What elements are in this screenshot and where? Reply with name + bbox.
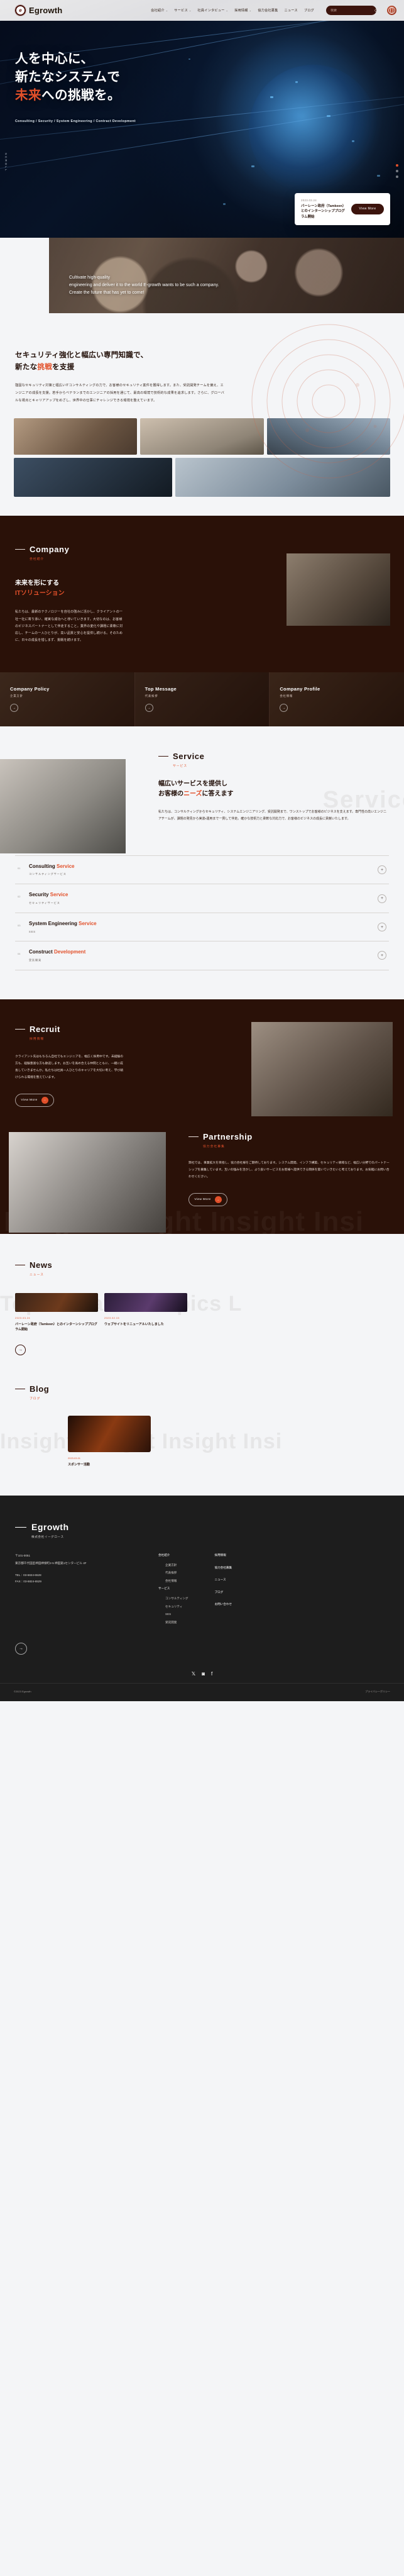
recruit-photo: [251, 1022, 393, 1116]
nav-label: ニュース: [285, 8, 298, 13]
security-heading-post: を支援: [52, 364, 74, 371]
footer-link-service[interactable]: サービス: [158, 1587, 188, 1591]
security-heading: セキュリティ強化と幅広い専門知識で、 新たな挑戦を支援: [15, 350, 226, 373]
tile-label-jp: 企業方針: [10, 694, 134, 698]
company-heading-jp: 会社紹介: [30, 557, 404, 561]
service-name-jp: コンサルティングサービス: [29, 872, 372, 876]
company-lead: 未来を形にする ITソリューション: [15, 579, 404, 599]
mission-text: Cultivate high-quality engineering and d…: [69, 274, 219, 297]
footer-social: 𝕏 ◙ f: [0, 1655, 404, 1683]
news-card-title: ウェブサイトをリニューアルいたしました: [104, 1322, 187, 1327]
footer-address: 〒101-0051 東京都千代田区神田神保町2-5 神田第1センタービル 4F …: [15, 1553, 141, 1629]
news-list: 2023.03.24 バーレーン政府（Tamkeen）とのインターンシッププログ…: [0, 1277, 404, 1332]
footer-fax: FAX：03-6824-6529: [15, 1580, 41, 1583]
service-name-jp: 受託開発: [29, 958, 372, 962]
footer-link-partner[interactable]: 協力会社募集: [214, 1567, 232, 1570]
footer-link-ses[interactable]: SES: [165, 1613, 188, 1616]
tile-bg: [0, 672, 134, 726]
site-footer: Egrowth 株式会社イーグロース 〒101-0051 東京都千代田区神田神保…: [0, 1496, 404, 1701]
chevron-down-icon: ⌄: [189, 9, 192, 12]
mission-line-1: Cultivate high-quality: [69, 274, 219, 282]
service-item-construct-development[interactable]: 04 Construct Development 受託開発 +: [15, 941, 389, 970]
brand-logo[interactable]: e Egrowth: [15, 5, 62, 16]
heading-rule: [15, 549, 25, 550]
footer-brand-en: Egrowth: [31, 1522, 69, 1532]
photo-office-1: [14, 418, 137, 455]
recruit-button-label: View More: [21, 1099, 37, 1102]
service-name-main: System Engineering: [29, 921, 79, 926]
nav-item-blog[interactable]: ブログ: [304, 8, 314, 13]
footer-scroll-top-button[interactable]: →: [15, 1643, 27, 1655]
service-lead-accent: ニーズ: [183, 791, 202, 797]
footer-link-recruit[interactable]: 採用情報: [214, 1554, 232, 1557]
news-card-1[interactable]: 2023.03.24 バーレーン政府（Tamkeen）とのインターンシッププログ…: [15, 1293, 98, 1332]
news-date: 2023.03.24: [301, 199, 346, 202]
hero-headline: 人を中心に、 新たなシステムで 未来への挑戦を。: [15, 50, 404, 104]
service-item-consulting[interactable]: 01 Consulting Service コンサルティングサービス +: [15, 855, 389, 885]
news-card-date: 2023.03.24: [15, 1316, 98, 1319]
nav-item-interview[interactable]: 社員インタビュー ⌄: [197, 8, 228, 13]
tile-label-jp: 会社情報: [280, 694, 404, 698]
service-watermark: Service: [323, 787, 404, 814]
plus-icon[interactable]: +: [378, 894, 386, 903]
footer-link-news[interactable]: ニュース: [214, 1579, 232, 1582]
chevron-down-icon: ⌄: [226, 9, 229, 12]
service-item-system-engineering[interactable]: 03 System Engineering Service SES +: [15, 913, 389, 941]
service-number: 02: [18, 895, 23, 902]
footer-link-consulting[interactable]: コンサルティング: [165, 1597, 188, 1601]
site-header: e Egrowth 会社紹介 ⌄ サービス ⌄ 社員インタビュー ⌄ 採用情報 …: [0, 0, 404, 21]
chevron-down-icon: ⌄: [166, 9, 168, 12]
plus-icon[interactable]: +: [378, 865, 386, 874]
tile-label-en: Company Policy: [10, 686, 134, 692]
blog-thumbnail: [68, 1416, 151, 1452]
tile-bg: [270, 672, 404, 726]
blog-card-title: スポンサー活動: [68, 1462, 151, 1467]
company-heading: Company: [15, 545, 404, 554]
recruit-body: クライアント先はもちろん自社でもエンジニアを、幅広く採用中です。未経験の方も、経…: [15, 1053, 126, 1081]
news-card-2[interactable]: 2023.02.15 ウェブサイトをリニューアルいたしました: [104, 1293, 187, 1332]
partnership-body: 弊社では、事業拡大を目指し、協力会社様をご期待しております。システム開発、インフ…: [188, 1160, 390, 1180]
search-input[interactable]: [330, 9, 372, 13]
recruit-heading: Recruit: [15, 1024, 126, 1034]
company-content: Company 会社紹介 未来を形にする ITソリューション 私たちは、最新のテ…: [0, 516, 404, 644]
blog-heading-en: Blog: [30, 1384, 49, 1394]
company-heading-en: Company: [30, 545, 69, 554]
slider-dot-2[interactable]: [396, 170, 398, 172]
service-lead-post: に答えます: [202, 791, 234, 797]
nav-item-news[interactable]: ニュース: [285, 8, 298, 13]
blog-heading-jp: ブログ: [30, 1396, 404, 1401]
service-name-en: Construct Development: [29, 949, 372, 956]
arrow-right-icon: →: [41, 1097, 48, 1104]
service-number: 03: [18, 924, 23, 931]
news-heading-en: News: [30, 1260, 52, 1270]
privacy-policy-link[interactable]: プライバシーポリシー: [365, 1690, 390, 1694]
security-heading-pre: 新たな: [15, 364, 37, 371]
company-tile-policy[interactable]: Company Policy 企業方針 →: [0, 672, 135, 726]
security-content: セキュリティ強化と幅広い専門知識で、 新たな挑戦を支援 強固なセキュリティ対策と…: [0, 350, 226, 404]
partnership-heading-en: Partnership: [203, 1132, 253, 1141]
service-name-en: Consulting Service: [29, 863, 372, 870]
service-item-security[interactable]: 02 Security Service セキュリティサービス +: [15, 884, 389, 913]
nav-label: 社員インタビュー: [197, 8, 224, 13]
service-name-main: Consulting: [29, 863, 57, 869]
heading-rule: [188, 1136, 199, 1137]
footer-column-1: 会社紹介 企業方針 代表挨拶 会社情報 サービス コンサルティング セキュリティ…: [158, 1554, 188, 1629]
mission-line-2: engineering and deliver it to the world …: [69, 282, 219, 289]
security-body: 強固なセキュリティ対策と幅広いITコンサルティングの力で、お客様のセキュリティ案…: [15, 382, 226, 404]
heading-rule: [15, 1265, 25, 1265]
news-section: Topics Latest Topics L News ニュース 2023.03…: [0, 1234, 404, 1380]
heading-rule: [158, 756, 168, 757]
service-number: 01: [18, 867, 23, 874]
nav-item-partner[interactable]: 協力会社募集: [258, 8, 278, 13]
service-name-accent: Service: [50, 892, 68, 897]
footer-links: 会社紹介 企業方針 代表挨拶 会社情報 サービス コンサルティング セキュリティ…: [158, 1553, 232, 1629]
partnership-heading: Partnership: [188, 1132, 390, 1141]
slider-dot-1[interactable]: [396, 164, 398, 167]
main-nav: 会社紹介 ⌄ サービス ⌄ 社員インタビュー ⌄ 採用情報 ⌄ 協力会社募集 ニ…: [151, 6, 396, 15]
hero-line-1: 人を中心に、: [15, 52, 94, 66]
footer-body: 〒101-0051 東京都千代田区神田神保町2-5 神田第1センタービル 4F …: [0, 1539, 404, 1629]
nav-item-company[interactable]: 会社紹介 ⌄: [151, 8, 168, 13]
nav-label: 採用情報: [234, 8, 248, 13]
nav-item-service[interactable]: サービス ⌄: [174, 8, 191, 13]
hero-section: 人を中心に、 新たなシステムで 未来への挑戦を。 Consulting / Se…: [0, 21, 404, 238]
arrow-right-icon: →: [215, 1196, 222, 1203]
footer-brand: Egrowth: [0, 1522, 404, 1532]
search-box[interactable]: [326, 6, 376, 15]
news-title: バーレーン政府（Tamkeen）とのインターンシッププログラム開始: [301, 204, 346, 219]
company-section: Company 会社紹介 未来を形にする ITソリューション 私たちは、最新のテ…: [0, 516, 404, 726]
recruit-section: Insight Insight Insight Insi Recruit 採用情…: [0, 999, 404, 1234]
blog-section: Insight Insight Insight Insi Blog ブログ 20…: [0, 1380, 404, 1496]
mission-band: Cultivate high-quality engineering and d…: [0, 238, 404, 313]
tile-bg: [135, 672, 270, 726]
partnership-content: Partnership 協力会社募集 弊社では、事業拡大を目指し、協力会社様をご…: [0, 1132, 404, 1206]
footer-bottom: ©2023 Egrowth プライバシーポリシー: [0, 1683, 404, 1701]
footer-link-blog[interactable]: ブログ: [214, 1591, 232, 1594]
service-heading-en: Service: [173, 752, 204, 761]
footer-link-profile[interactable]: 会社情報: [165, 1580, 188, 1583]
hero-line-2: 新たなシステムで: [15, 70, 120, 84]
blog-card[interactable]: 2023.03.01 スポンサー活動: [68, 1416, 151, 1467]
company-lead-1: 未来を形にする: [15, 580, 59, 587]
security-section: セキュリティ強化と幅広い専門知識で、 新たな挑戦を支援 強固なセキュリティ対策と…: [0, 313, 404, 516]
plus-icon[interactable]: +: [378, 951, 386, 960]
news-thumbnail: [104, 1293, 187, 1312]
service-name-accent: Development: [54, 949, 85, 955]
footer-link-policy[interactable]: 企業方針: [165, 1564, 188, 1567]
page-root: e Egrowth 会社紹介 ⌄ サービス ⌄ 社員インタビュー ⌄ 採用情報 …: [0, 0, 404, 1701]
recruit-view-more-button[interactable]: View More →: [15, 1094, 54, 1107]
blog-heading: Blog: [0, 1384, 404, 1394]
view-more-button[interactable]: View More: [351, 204, 384, 214]
nav-label: サービス: [174, 8, 188, 13]
tile-label-en: Company Profile: [280, 686, 404, 692]
facebook-icon[interactable]: f: [211, 1671, 212, 1677]
hero-slider-dots[interactable]: [396, 164, 398, 178]
radar-graphic: [247, 319, 404, 483]
plus-icon[interactable]: +: [378, 923, 386, 931]
partnership-view-more-button[interactable]: View More →: [188, 1193, 227, 1206]
news-card-date: 2023.02.15: [104, 1316, 187, 1319]
tile-label-en: Top Message: [145, 686, 270, 692]
service-name-main: Construct: [29, 949, 54, 955]
logo-icon: e: [15, 5, 26, 16]
hero-subtitle: Consulting / Security / System Engineeri…: [15, 119, 404, 123]
service-names: Construct Development 受託開発: [29, 949, 372, 962]
photo-office-4: [14, 458, 172, 497]
service-heading-jp: サービス: [173, 763, 404, 768]
hero-news-text: 2023.03.24 バーレーン政府（Tamkeen）とのインターンシッププログ…: [301, 199, 346, 219]
service-list: 01 Consulting Service コンサルティングサービス + 02 …: [15, 855, 389, 970]
nav-label: 会社紹介: [151, 8, 165, 13]
service-number: 04: [18, 952, 23, 959]
service-name-accent: Service: [57, 863, 74, 869]
company-tile-profile[interactable]: Company Profile 会社情報 →: [270, 672, 404, 726]
news-thumbnail: [15, 1293, 98, 1312]
company-tile-message[interactable]: Top Message 代表挨拶 →: [135, 672, 270, 726]
service-lead-pre: お客様の: [158, 791, 183, 797]
recruit-heading-en: Recruit: [30, 1024, 60, 1034]
service-lead-1: 幅広いサービスを提供し: [158, 780, 227, 787]
news-more-button[interactable]: →: [15, 1345, 26, 1355]
company-lead-accent: ITソリューション: [15, 590, 65, 597]
footer-zip: 〒101-0051: [15, 1553, 141, 1559]
service-name-jp: SES: [29, 930, 372, 933]
security-heading-accent: 挑戦: [37, 364, 52, 371]
footer-link-security[interactable]: セキュリティ: [165, 1606, 188, 1609]
blog-card-date: 2023.03.01: [68, 1457, 151, 1460]
news-card-title: バーレーン政府（Tamkeen）とのインターンシッププログラム開始: [15, 1322, 98, 1332]
footer-tel: TEL：03-6824-6528: [15, 1572, 141, 1579]
news-heading: News: [0, 1260, 404, 1270]
search-icon: [374, 9, 378, 13]
company-body: 私たちは、最新のテクノロジーを自社の強みに活かし、クライアントの一社一社に寄り添…: [15, 609, 125, 644]
service-name-en: System Engineering Service: [29, 921, 372, 928]
scroll-label: SCROLL: [4, 153, 8, 172]
slider-dot-3[interactable]: [396, 175, 398, 178]
tile-label-jp: 代表挨拶: [145, 694, 270, 698]
footer-link-contact[interactable]: お問い合わせ: [214, 1603, 232, 1606]
mission-line-3: Create the future that has yet to come!: [69, 289, 219, 297]
hero-line-3-accent: 未来: [15, 88, 41, 103]
globe-icon[interactable]: [387, 6, 396, 15]
photo-office-2: [140, 418, 263, 455]
footer-link-message[interactable]: 代表挨拶: [165, 1572, 188, 1575]
heading-rule: [15, 1527, 26, 1528]
arrow-right-icon[interactable]: →: [145, 704, 153, 712]
service-names: System Engineering Service SES: [29, 921, 372, 933]
nav-label: ブログ: [304, 8, 314, 13]
x-icon[interactable]: 𝕏: [192, 1671, 195, 1677]
partnership-heading-jp: 協力会社募集: [203, 1144, 390, 1148]
recruit-content: Recruit 採用情報 クライアント先はもちろん自社でもエンジニアを、幅広く採…: [0, 1024, 126, 1107]
service-section: Service Service サービス 幅広いサービスを提供し お客様のニーズ…: [0, 726, 404, 999]
footer-link-development[interactable]: 受託開発: [165, 1621, 188, 1624]
nav-label: 協力会社募集: [258, 8, 278, 13]
footer-link-company[interactable]: 会社紹介: [158, 1554, 188, 1557]
heading-rule: [15, 1389, 25, 1389]
service-names: Security Service セキュリティサービス: [29, 892, 372, 905]
footer-street: 東京都千代田区神田神保町2-5 神田第1センタービル 4F: [15, 1562, 87, 1565]
security-heading-line-1: セキュリティ強化と幅広い専門知識で、: [15, 352, 148, 359]
news-heading-jp: ニュース: [30, 1272, 404, 1277]
chevron-down-icon: ⌄: [249, 9, 252, 12]
partnership-button-label: View More: [194, 1198, 210, 1201]
hero-news-card[interactable]: 2023.03.24 バーレーン政府（Tamkeen）とのインターンシッププログ…: [295, 193, 390, 225]
heading-rule: [15, 1029, 25, 1030]
service-names: Consulting Service コンサルティングサービス: [29, 863, 372, 877]
partnership-section: Partnership 協力会社募集 弊社では、事業拡大を目指し、協力会社様をご…: [0, 1132, 404, 1234]
service-name-accent: Service: [79, 921, 96, 926]
brand-name: Egrowth: [29, 6, 62, 15]
nav-item-recruit[interactable]: 採用情報 ⌄: [234, 8, 251, 13]
service-name-en: Security Service: [29, 892, 372, 899]
hero-line-3-rest: への挑戦を。: [41, 88, 121, 103]
footer-column-2: 採用情報 協力会社募集 ニュース ブログ お問い合わせ: [214, 1554, 232, 1629]
hero-content: 人を中心に、 新たなシステムで 未来への挑戦を。 Consulting / Se…: [0, 21, 404, 123]
service-photo: [0, 759, 126, 853]
copyright: ©2023 Egrowth: [14, 1690, 31, 1694]
company-tiles: Company Policy 企業方針 → Top Message 代表挨拶 →…: [0, 672, 404, 726]
recruit-heading-jp: 採用情報: [30, 1036, 126, 1041]
service-name-main: Security: [29, 892, 50, 897]
service-name-jp: セキュリティサービス: [29, 901, 372, 905]
instagram-icon[interactable]: ◙: [202, 1671, 205, 1677]
